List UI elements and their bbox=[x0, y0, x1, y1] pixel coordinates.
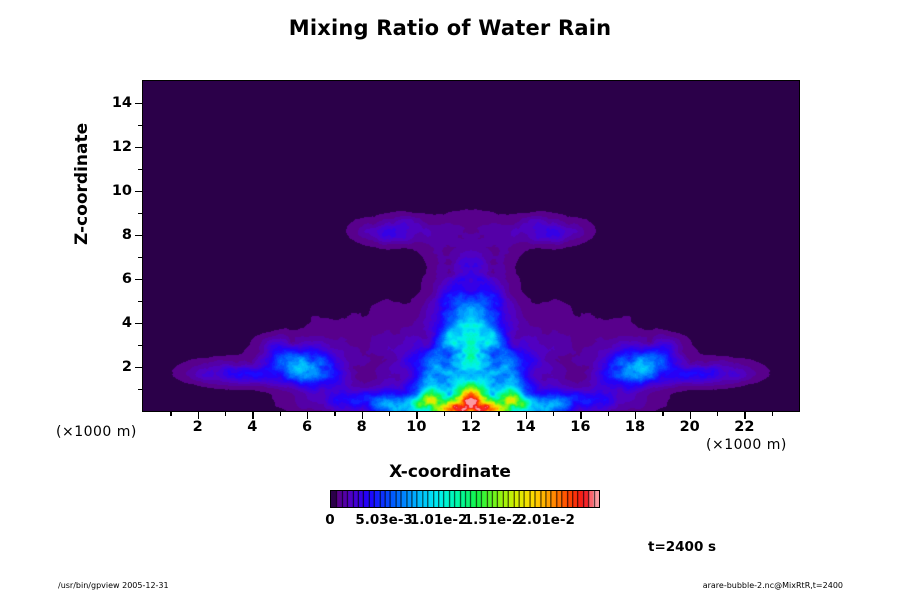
x-axis-tick bbox=[553, 411, 554, 416]
y-axis-tick bbox=[135, 103, 143, 104]
x-axis-tick bbox=[608, 411, 609, 416]
x-axis-tick bbox=[198, 411, 199, 419]
x-unit-left-label: (×1000 m) bbox=[56, 424, 137, 440]
x-axis-tick bbox=[252, 411, 253, 419]
y-axis-tick-label: 12 bbox=[112, 139, 132, 155]
x-axis-tick-label: 22 bbox=[734, 419, 754, 435]
time-annotation: t=2400 s bbox=[648, 539, 716, 555]
y-axis-tick-label: 4 bbox=[122, 315, 132, 331]
x-axis-tick-label: 2 bbox=[193, 419, 203, 435]
x-axis-tick bbox=[580, 411, 581, 419]
y-axis-tick bbox=[138, 345, 143, 346]
x-axis-tick bbox=[416, 411, 417, 419]
colorbar-gradient bbox=[330, 490, 600, 508]
y-axis-tick bbox=[135, 147, 143, 148]
y-axis-tick bbox=[135, 279, 143, 280]
y-axis-tick bbox=[138, 169, 143, 170]
x-axis-tick-label: 14 bbox=[516, 419, 536, 435]
y-axis-tick-label: 10 bbox=[112, 183, 132, 199]
x-unit-right-label: (×1000 m) bbox=[706, 437, 787, 453]
y-axis-tick-label: 8 bbox=[122, 227, 132, 243]
contour-field bbox=[143, 81, 799, 411]
x-axis-tick bbox=[444, 411, 445, 416]
y-axis-tick bbox=[138, 213, 143, 214]
x-axis-tick bbox=[772, 411, 773, 416]
x-axis-tick-label: 20 bbox=[680, 419, 700, 435]
x-axis-tick bbox=[334, 411, 335, 416]
colorbar-tick-label: 5.03e-3 bbox=[355, 512, 412, 528]
x-axis-tick bbox=[662, 411, 663, 416]
x-axis-tick bbox=[362, 411, 363, 419]
x-axis-tick bbox=[280, 411, 281, 416]
y-axis-tick bbox=[138, 301, 143, 302]
colorbar-tick-label: 1.51e-2 bbox=[464, 512, 521, 528]
x-axis-tick bbox=[225, 411, 226, 416]
y-axis-title: Z-coordinate bbox=[72, 123, 92, 245]
x-axis-tick bbox=[498, 411, 499, 416]
y-axis-tick bbox=[135, 235, 143, 236]
y-axis-tick-label: 2 bbox=[122, 359, 132, 375]
colorbar: 05.03e-31.01e-21.51e-22.01e-2 bbox=[330, 490, 600, 508]
figure-canvas: Mixing Ratio of Water Rain 2468101214161… bbox=[0, 0, 900, 600]
x-axis-tick bbox=[744, 411, 745, 419]
y-axis-tick bbox=[135, 191, 143, 192]
x-axis-tick bbox=[471, 411, 472, 419]
y-axis-tick bbox=[138, 257, 143, 258]
footer-command: /usr/bin/gpview 2005-12-31 bbox=[58, 581, 169, 590]
x-axis-tick-label: 16 bbox=[570, 419, 590, 435]
y-axis-tick bbox=[135, 367, 143, 368]
x-axis-tick bbox=[307, 411, 308, 419]
x-axis-tick-label: 4 bbox=[247, 419, 257, 435]
y-axis-tick-label: 14 bbox=[112, 95, 132, 111]
x-axis-tick-label: 6 bbox=[302, 419, 312, 435]
plot-area: 2468101214161820222468101214 bbox=[142, 80, 800, 412]
x-axis-tick bbox=[635, 411, 636, 419]
y-axis-tick-label: 6 bbox=[122, 271, 132, 287]
y-axis-tick bbox=[138, 125, 143, 126]
x-axis-tick-label: 8 bbox=[357, 419, 367, 435]
colorbar-tick-label: 2.01e-2 bbox=[517, 512, 574, 528]
page-title: Mixing Ratio of Water Rain bbox=[0, 16, 900, 40]
y-axis-tick bbox=[138, 389, 143, 390]
x-axis-title: X-coordinate bbox=[0, 462, 900, 482]
y-axis-tick bbox=[135, 323, 143, 324]
footer-source: arare-bubble-2.nc@MixRtR,t=2400 bbox=[703, 581, 843, 590]
x-axis-tick bbox=[170, 411, 171, 416]
x-axis-tick bbox=[526, 411, 527, 419]
x-axis-tick-label: 12 bbox=[461, 419, 481, 435]
x-axis-tick-label: 18 bbox=[625, 419, 645, 435]
colorbar-tick-label: 1.01e-2 bbox=[410, 512, 467, 528]
colorbar-tick-label: 0 bbox=[325, 512, 334, 528]
x-axis-tick bbox=[717, 411, 718, 416]
x-axis-tick bbox=[389, 411, 390, 416]
x-axis-tick-label: 10 bbox=[406, 419, 426, 435]
x-axis-tick bbox=[690, 411, 691, 419]
